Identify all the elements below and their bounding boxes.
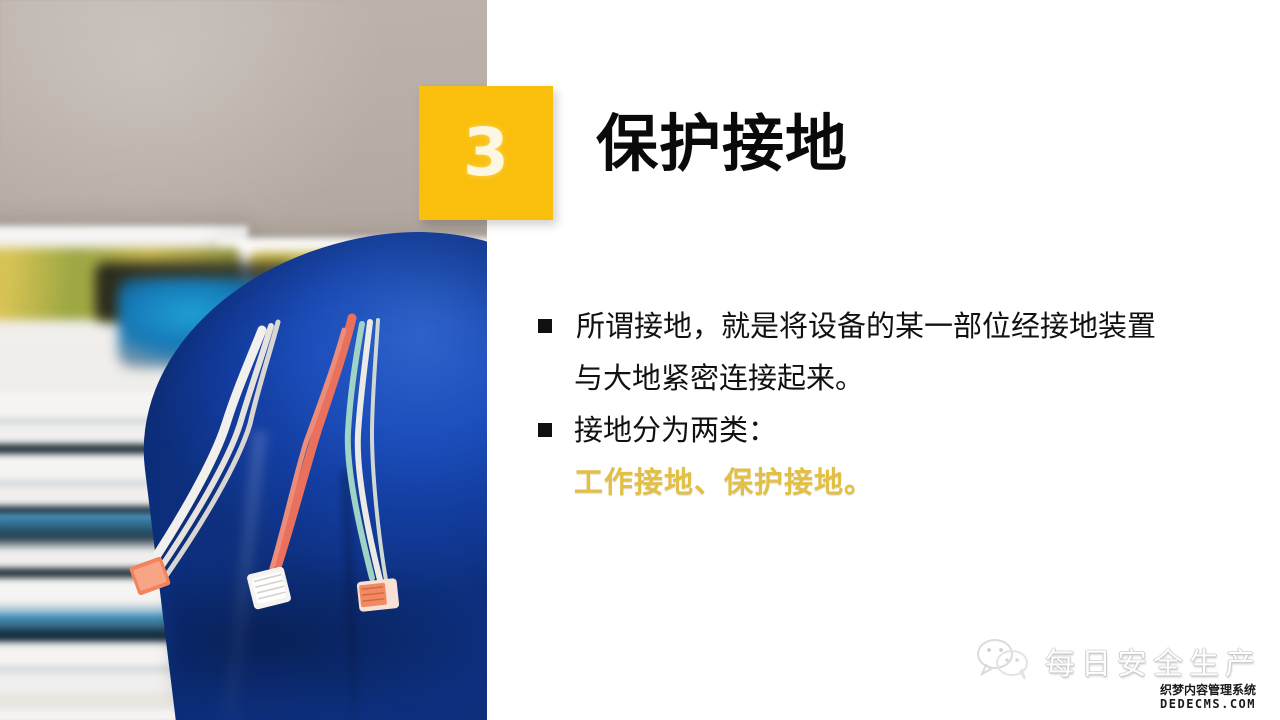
bullet-square-icon: [538, 319, 552, 333]
dedecms-cn-label: 织梦内容管理系统: [1160, 684, 1256, 696]
slide-canvas: 3 保护接地 所谓接地，就是将设备的某一部位经接地装置 与大地紧密连接起来。 接…: [0, 0, 1280, 720]
bullet-square-icon: [538, 423, 552, 437]
body-text: 所谓接地，就是将设备的某一部位经接地装置: [574, 300, 1156, 352]
watermark: 每日安全生产: [975, 638, 1261, 684]
dedecms-domain-label: DEDECMS.COM: [1160, 698, 1256, 710]
watermark-account-name: 每日安全生产: [1045, 639, 1261, 683]
section-number-value: 3: [463, 120, 509, 186]
body-text: 与大地紧密连接起来。: [574, 352, 864, 404]
dedecms-watermark: 织梦内容管理系统 DEDECMS.COM: [1160, 684, 1256, 710]
slide-title: 保护接地: [596, 110, 848, 178]
body-line: 工作接地、保护接地。: [538, 456, 1238, 508]
body-text: 接地分为两类：: [574, 404, 777, 456]
section-number-badge: 3: [419, 86, 553, 220]
bullet-spacer: [538, 475, 552, 489]
body-text-highlight: 工作接地、保护接地。: [574, 456, 874, 508]
body-line: 与大地紧密连接起来。: [538, 352, 1238, 404]
body-line: 接地分为两类：: [538, 404, 1238, 456]
wechat-icon: [975, 638, 1033, 684]
photo-cable-bundle: [0, 0, 487, 720]
slide-photo: [0, 0, 487, 720]
body-line: 所谓接地，就是将设备的某一部位经接地装置: [538, 300, 1238, 352]
bullet-spacer: [538, 371, 552, 385]
slide-body: 所谓接地，就是将设备的某一部位经接地装置 与大地紧密连接起来。 接地分为两类： …: [538, 300, 1238, 508]
